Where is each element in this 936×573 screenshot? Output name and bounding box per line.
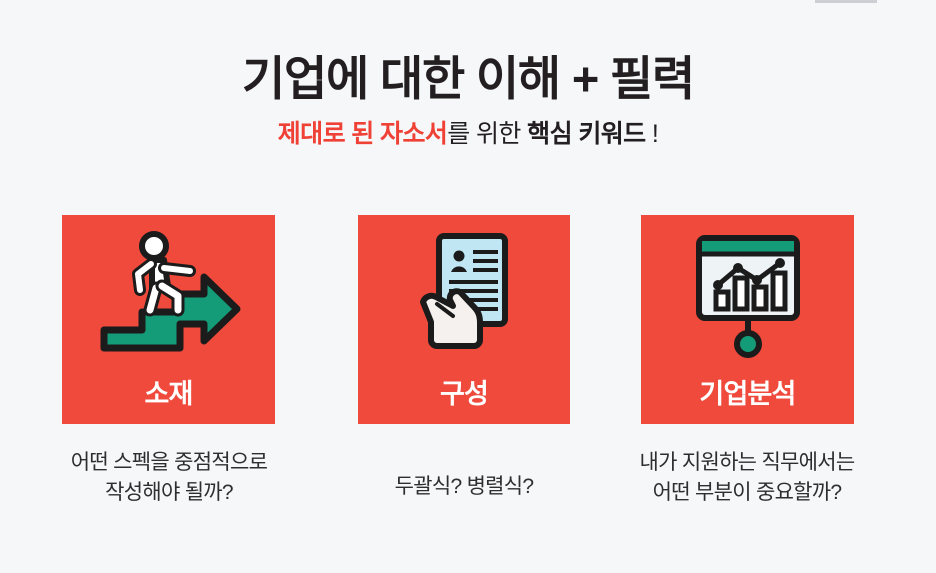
presentation-chart-board-icon <box>641 229 854 359</box>
slide-canvas: 기업에 대한 이해 + 필력 제대로 된 자소서를 위한 핵심 키워드 ! <box>0 0 936 573</box>
card-column-structure: 구성 두괄식? 병렬식? <box>358 215 570 502</box>
card-label-material: 소재 <box>62 380 275 410</box>
heading-block: 기업에 대한 이해 + 필력 제대로 된 자소서를 위한 핵심 키워드 ! <box>0 52 936 149</box>
card-company-analysis[interactable]: 기업분석 <box>641 215 854 424</box>
top-divider-rule <box>815 0 877 3</box>
card-label-structure: 구성 <box>358 380 570 410</box>
card-material[interactable]: 소재 <box>62 215 275 424</box>
person-climbing-stairs-arrow-icon <box>62 229 275 359</box>
card-row: 소재 어떤 스펙을 중점적으로 작성해야 될까? <box>0 215 936 535</box>
card-caption-structure: 두괄식? 병렬식? <box>358 472 570 502</box>
card-caption-material: 어떤 스펙을 중점적으로 작성해야 될까? <box>24 448 314 508</box>
card-column-company-analysis: 기업분석 내가 지원하는 직무에서는 어떤 부분이 중요할까? <box>641 215 854 508</box>
card-structure[interactable]: 구성 <box>358 215 570 424</box>
subtitle-highlight: 제대로 된 자소서 <box>278 120 448 148</box>
page-subtitle: 제대로 된 자소서를 위한 핵심 키워드 ! <box>0 119 936 149</box>
card-caption-company-analysis: 내가 지원하는 직무에서는 어떤 부분이 중요할까? <box>597 448 897 508</box>
hand-holding-resume-icon <box>358 229 570 359</box>
page-title: 기업에 대한 이해 + 필력 <box>0 52 936 106</box>
card-column-material: 소재 어떤 스펙을 중점적으로 작성해야 될까? <box>62 215 275 508</box>
subtitle-connector: 를 위한 <box>447 120 527 148</box>
subtitle-emphasis: 핵심 키워드 <box>527 120 645 148</box>
card-label-company-analysis: 기업분석 <box>641 380 854 410</box>
subtitle-exclamation: ! <box>646 120 659 148</box>
